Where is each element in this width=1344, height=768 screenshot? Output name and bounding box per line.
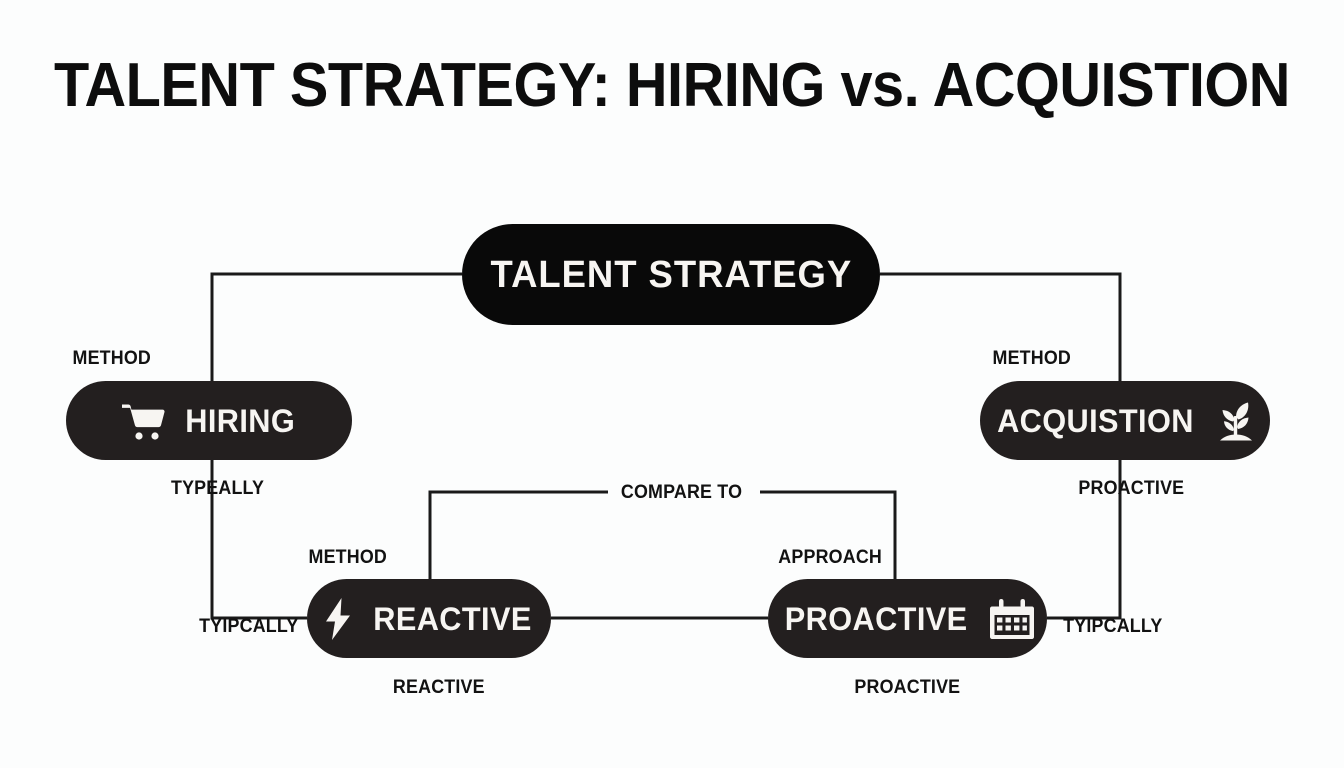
seedling-icon	[1215, 398, 1257, 444]
lightning-bolt-icon	[324, 597, 352, 641]
hiring-caption-bottom: TYPEALLY	[171, 479, 264, 498]
calendar-icon	[990, 598, 1034, 640]
edge-center-to-hiring	[212, 274, 462, 381]
node-acquisition-label: ACQUISTION	[997, 405, 1194, 437]
node-talent-strategy-label: TALENT STRATEGY	[490, 256, 852, 294]
page-title: TALENT STRATEGY: HIRING vs. ACQUISTION	[47, 52, 1297, 120]
node-proactive[interactable]: PROACTIVE	[768, 579, 1047, 658]
node-hiring[interactable]: HIRING	[66, 381, 352, 460]
acquisition-caption-top: METHOD	[993, 349, 1072, 368]
node-reactive[interactable]: REACTIVE	[307, 579, 551, 658]
node-hiring-label: HIRING	[185, 405, 295, 437]
edge-label-compare-to: COMPARE TO	[612, 483, 750, 502]
acquisition-caption-bottom: PROACTIVE	[1078, 479, 1184, 498]
hiring-caption-top: METHOD	[73, 349, 152, 368]
reactive-caption-bottom: REACTIVE	[393, 678, 485, 697]
edge-compare-left	[430, 492, 608, 579]
proactive-caption-top: APPROACH	[778, 548, 882, 567]
node-acquisition[interactable]: ACQUISTION	[980, 381, 1270, 460]
reactive-caption-top: METHOD	[309, 548, 388, 567]
edge-label-left-typically: TYIPCALLY	[199, 617, 298, 636]
node-reactive-label: REACTIVE	[373, 603, 531, 635]
edge-label-right-typically: TYIPCALLY	[1063, 617, 1162, 636]
proactive-caption-bottom: PROACTIVE	[854, 678, 960, 697]
diagram-canvas: TALENT STRATEGY: HIRING vs. ACQUISTION T…	[0, 0, 1344, 768]
node-proactive-label: PROACTIVE	[785, 603, 968, 635]
shopping-cart-icon	[121, 401, 165, 441]
node-talent-strategy[interactable]: TALENT STRATEGY	[462, 224, 880, 325]
